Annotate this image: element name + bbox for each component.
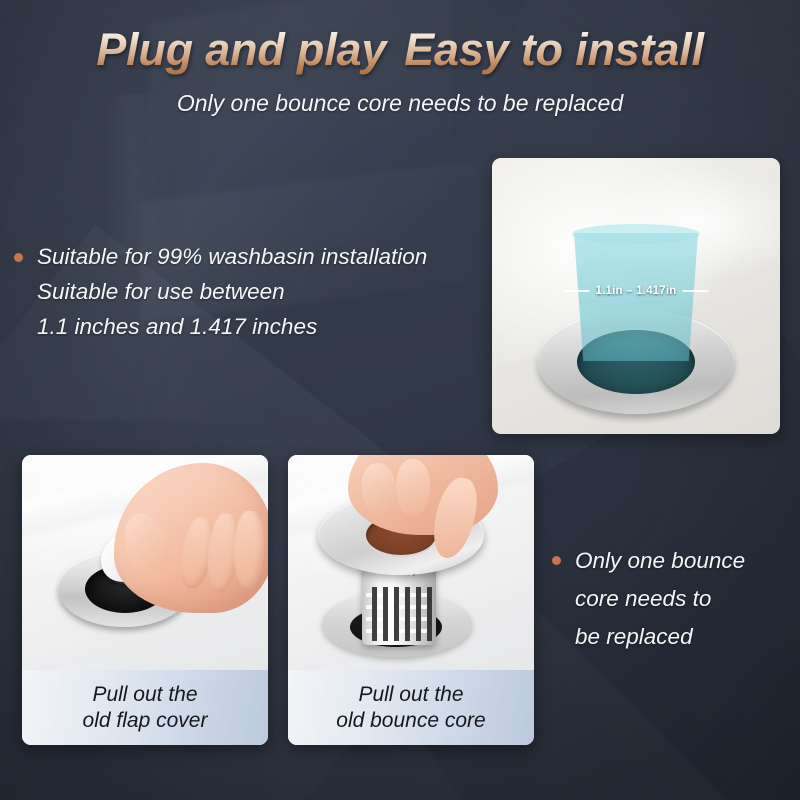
step-caption-line: old flap cover bbox=[83, 708, 208, 734]
headline-part-one: Plug and play bbox=[96, 24, 386, 75]
bullet-text-group: Only one bounce core needs to be replace… bbox=[575, 542, 745, 655]
step-caption-line: Pull out the bbox=[358, 682, 463, 708]
bullet-text-group: Suitable for 99% washbasin installation … bbox=[37, 240, 427, 345]
feature-bullet-left: Suitable for 99% washbasin installation … bbox=[14, 240, 484, 345]
step-caption: Pull out the old bounce core bbox=[288, 670, 534, 745]
step-card-pull-flap-cover: Pull out the old flap cover bbox=[22, 455, 268, 745]
bullet-line: Suitable for use between bbox=[37, 275, 427, 310]
step-photo-bounce-core: SUS304 bbox=[288, 455, 534, 670]
headline-part-two: Easy to install bbox=[404, 24, 704, 75]
bullet-line: Only one bounce bbox=[575, 542, 745, 580]
measurement-label: 1.1in – 1.417in bbox=[564, 285, 709, 297]
measurement-value: 1.1in – 1.417in bbox=[596, 285, 677, 297]
step-caption-line: old bounce core bbox=[336, 708, 485, 734]
poster-headline: Plug and playEasy to install bbox=[0, 24, 800, 76]
finger bbox=[396, 459, 430, 517]
poster-subtitle: Only one bounce core needs to be replace… bbox=[0, 90, 800, 117]
step-card-pull-bounce-core: SUS304 Pull out the old bounce core bbox=[288, 455, 534, 745]
measurement-photo-card: 1.1in – 1.417in bbox=[492, 158, 780, 434]
step-caption-line: Pull out the bbox=[92, 682, 197, 708]
strainer-slots bbox=[366, 587, 432, 641]
step-caption: Pull out the old flap cover bbox=[22, 670, 268, 745]
measure-arrow-left-icon bbox=[564, 290, 590, 292]
bullet-dot-icon bbox=[14, 253, 23, 262]
measure-cylinder bbox=[570, 233, 702, 361]
bullet-row: Only one bounce core needs to be replace… bbox=[552, 542, 800, 655]
step-photo-flap-cover bbox=[22, 455, 268, 670]
bullet-line: be replaced bbox=[575, 618, 745, 656]
feature-bullet-right: Only one bounce core needs to be replace… bbox=[552, 542, 800, 655]
bullet-row: Suitable for 99% washbasin installation … bbox=[14, 240, 484, 345]
measure-arrow-right-icon bbox=[683, 290, 709, 292]
product-poster: Plug and playEasy to install Only one bo… bbox=[0, 0, 800, 800]
bullet-dot-icon bbox=[552, 556, 561, 565]
bullet-line: Suitable for 99% washbasin installation bbox=[37, 240, 427, 275]
bullet-line: core needs to bbox=[575, 580, 745, 618]
bullet-line: 1.1 inches and 1.417 inches bbox=[37, 310, 427, 345]
